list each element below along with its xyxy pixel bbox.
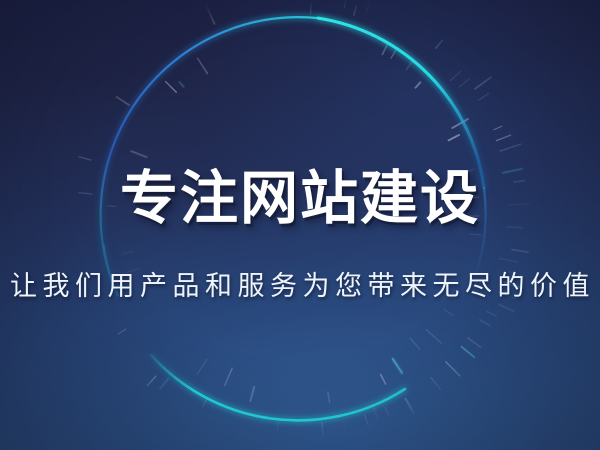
subtitle-container: 让我们用产品和服务为您带来无尽的价值: [0, 269, 600, 303]
banner-subtitle: 让我们用产品和服务为您带来无尽的价值: [5, 269, 595, 303]
title-container: 专注网站建设: [0, 168, 600, 230]
hero-banner: 专注网站建设 让我们用产品和服务为您带来无尽的价值: [0, 0, 600, 450]
banner-title: 专注网站建设: [120, 168, 480, 230]
background-glow-upper: [180, 0, 600, 293]
